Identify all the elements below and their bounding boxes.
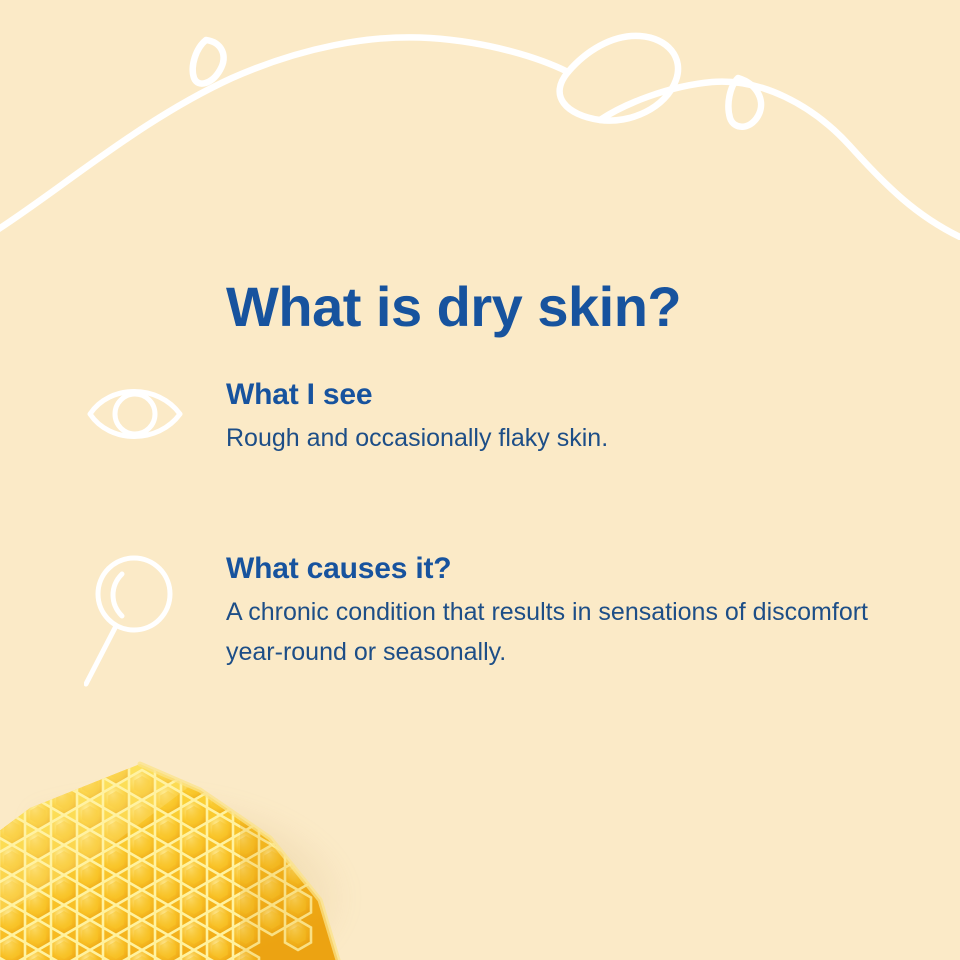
section-description: Rough and occasionally flaky skin.: [226, 418, 886, 459]
section-description: A chronic condition that results in sens…: [226, 592, 886, 673]
section-text-block: What causes it? A chronic condition that…: [226, 552, 926, 673]
section-heading: What I see: [226, 378, 926, 412]
hand-drawn-vine-squiggle: [0, 0, 960, 240]
honeycomb-illustration: [0, 750, 350, 960]
honeycomb-shadow: [30, 790, 350, 960]
honeycomb-photo: [0, 750, 370, 960]
page-title: What is dry skin?: [226, 276, 681, 338]
section-heading: What causes it?: [226, 552, 926, 586]
section-text-block: What I see Rough and occasionally flaky …: [226, 378, 926, 458]
eye-icon: [84, 378, 194, 518]
magnifier-icon: [84, 552, 194, 692]
infographic-card: What is dry skin? What I see Rough and o…: [0, 0, 960, 960]
